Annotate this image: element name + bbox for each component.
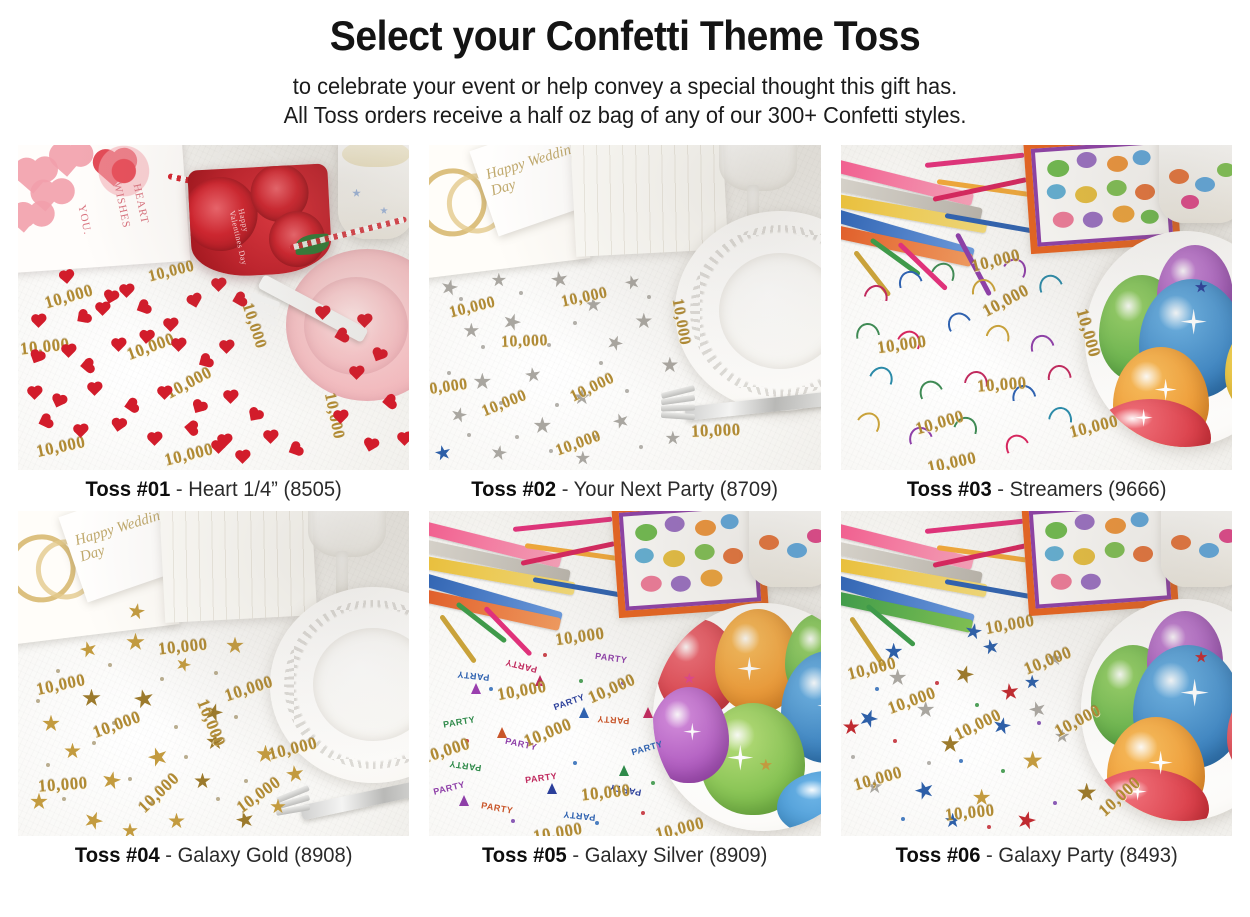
- caption-dash: -: [986, 844, 993, 867]
- caption-dash: -: [573, 844, 580, 867]
- toss-photo-6[interactable]: 10,000 10,000 10,000 10,000 10,000 10,00…: [841, 511, 1232, 836]
- toss-option-3[interactable]: 10,000 10,000 10,000 10,000 10,000 10,00…: [841, 145, 1232, 506]
- toss-option-1[interactable]: HEART WISHES YOU. HappyValentines Day: [18, 145, 409, 506]
- toss-number-5: Toss #05: [482, 844, 567, 867]
- caption-dash: -: [165, 844, 172, 867]
- toss-option-2[interactable]: Happy Wedding Day: [429, 145, 820, 506]
- subtitle-line-1: to celebrate your event or help convey a…: [31, 72, 1219, 101]
- toss-number-4: Toss #04: [75, 844, 160, 867]
- toss-number-1: Toss #01: [86, 478, 171, 501]
- page-header: Select your Confetti Theme Toss to celeb…: [0, 0, 1250, 130]
- toss-caption-2: Toss #02 - Your Next Party (8709): [437, 470, 813, 506]
- toss-name-4: Galaxy Gold (8908): [178, 844, 353, 867]
- caption-dash: -: [562, 478, 569, 501]
- page-title: Select your Confetti Theme Toss: [44, 14, 1207, 58]
- toss-option-5[interactable]: PARTY PARTY PARTY PARTY PARTY PARTY PART…: [429, 511, 820, 872]
- toss-caption-3: Toss #03 - Streamers (9666): [848, 470, 1224, 506]
- toss-caption-1: Toss #01 - Heart 1/4” (8505): [26, 470, 402, 506]
- toss-number-6: Toss #06: [895, 844, 980, 867]
- toss-photo-5[interactable]: PARTY PARTY PARTY PARTY PARTY PARTY PART…: [429, 511, 820, 836]
- caption-dash: -: [176, 478, 183, 501]
- toss-option-6[interactable]: 10,000 10,000 10,000 10,000 10,000 10,00…: [841, 511, 1232, 872]
- toss-photo-3[interactable]: 10,000 10,000 10,000 10,000 10,000 10,00…: [841, 145, 1232, 470]
- toss-name-6: Galaxy Party (8493): [998, 844, 1177, 867]
- toss-options-grid: HEART WISHES YOU. HappyValentines Day: [0, 145, 1250, 872]
- toss-name-1: Heart 1/4” (8505): [188, 478, 342, 501]
- toss-name-3: Streamers (9666): [1009, 478, 1166, 501]
- toss-name-5: Galaxy Silver (8909): [585, 844, 768, 867]
- subtitle-line-2: All Toss orders receive a half oz bag of…: [31, 101, 1219, 130]
- caption-dash: -: [997, 478, 1004, 501]
- toss-caption-6: Toss #06 - Galaxy Party (8493): [848, 836, 1224, 872]
- toss-number-3: Toss #03: [907, 478, 992, 501]
- toss-caption-4: Toss #04 - Galaxy Gold (8908): [26, 836, 402, 872]
- toss-name-2: Your Next Party (8709): [574, 478, 778, 501]
- toss-number-2: Toss #02: [472, 478, 557, 501]
- toss-photo-2[interactable]: Happy Wedding Day: [429, 145, 820, 470]
- toss-option-4[interactable]: Happy Wedding Day: [18, 511, 409, 872]
- toss-caption-5: Toss #05 - Galaxy Silver (8909): [437, 836, 813, 872]
- toss-photo-4[interactable]: Happy Wedding Day: [18, 511, 409, 836]
- toss-photo-1[interactable]: HEART WISHES YOU. HappyValentines Day: [18, 145, 409, 470]
